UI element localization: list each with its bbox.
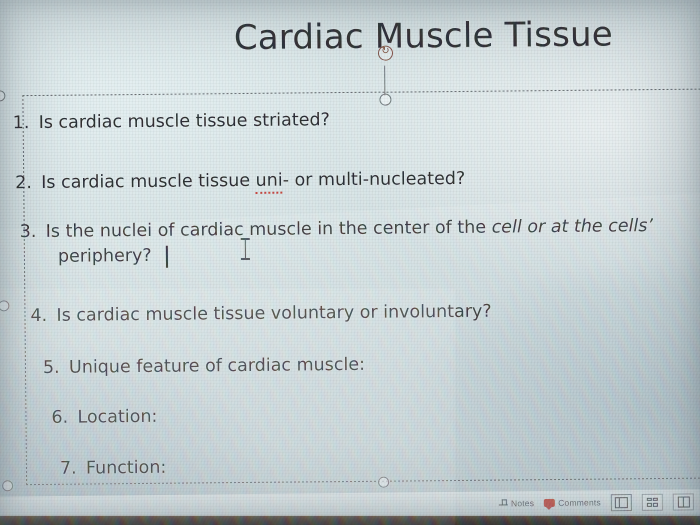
screen-photograph: Cardiac Muscle Tissue ↻ 1.Is cardiac mus… xyxy=(0,0,700,525)
moire-pattern-lower-left xyxy=(0,289,455,525)
